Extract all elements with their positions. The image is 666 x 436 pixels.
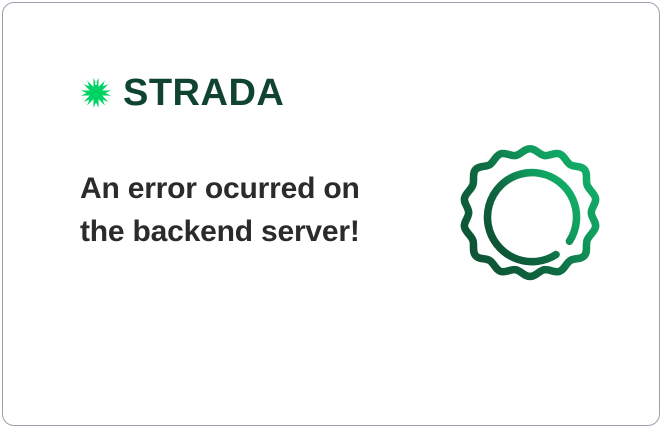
brand-wordmark: STRADA	[123, 74, 284, 112]
brand-lockup: STRADA	[79, 73, 284, 113]
gear-spinner-icon	[446, 136, 614, 306]
strada-asterisk-icon	[79, 76, 113, 110]
error-card: STRADA An error ocurred on the backend s…	[2, 2, 660, 426]
error-message: An error ocurred on the backend server!	[80, 167, 370, 253]
